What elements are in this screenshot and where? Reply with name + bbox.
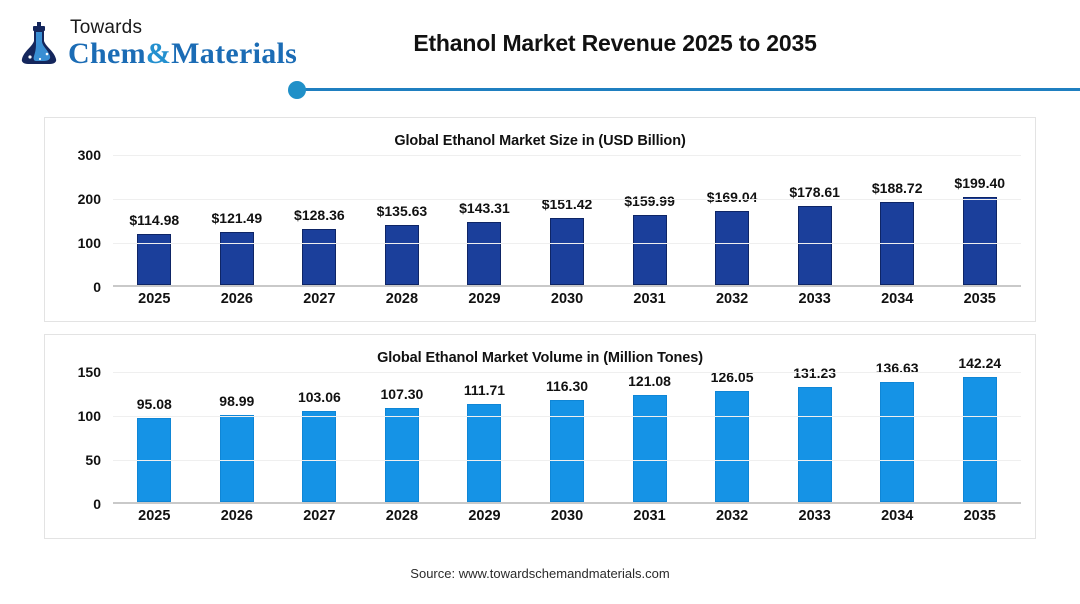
x-tick-label: 2029 [443, 291, 526, 307]
bar[interactable] [137, 234, 171, 285]
bar[interactable] [633, 215, 667, 285]
gridline [113, 372, 1021, 373]
y-tick-label: 100 [78, 235, 101, 251]
bar-column[interactable]: 98.99 [196, 372, 279, 502]
x-tick-label: 2028 [361, 291, 444, 307]
bar-column[interactable]: 111.71 [443, 372, 526, 502]
bar[interactable] [220, 232, 254, 285]
bar[interactable] [302, 411, 336, 502]
bar-column[interactable]: $151.42 [526, 155, 609, 285]
bar-value-label: 95.08 [137, 396, 172, 412]
chart-title-market-size: Global Ethanol Market Size in (USD Billi… [45, 118, 1035, 149]
bar-value-label: $114.98 [129, 212, 179, 228]
x-tick-label: 2025 [113, 508, 196, 524]
bar-value-label: $128.36 [294, 207, 345, 223]
bar[interactable] [715, 391, 749, 502]
bar-value-label: 111.71 [464, 382, 505, 398]
chart-market-size: 0100200300 $114.98$121.49$128.36$135.63$… [57, 155, 1021, 323]
bar-value-label: 116.30 [546, 378, 588, 394]
x-tick-label: 2031 [608, 508, 691, 524]
bar-column[interactable]: $114.98 [113, 155, 196, 285]
bar-column[interactable]: 126.05 [691, 372, 774, 502]
bar-value-label: 121.08 [628, 373, 671, 389]
bar-value-label: 142.24 [958, 355, 1001, 371]
bar-group-market-size: $114.98$121.49$128.36$135.63$143.31$151.… [113, 155, 1021, 285]
bar-value-label: 103.06 [298, 389, 341, 405]
y-tick-label: 100 [78, 408, 101, 424]
y-tick-label: 300 [78, 147, 101, 163]
bar-column[interactable]: 121.08 [608, 372, 691, 502]
bar-value-label: $135.63 [377, 203, 428, 219]
bar[interactable] [385, 225, 419, 285]
y-tick-label: 0 [93, 279, 101, 295]
bar-column[interactable]: $178.61 [773, 155, 856, 285]
bar[interactable] [385, 408, 419, 502]
x-axis-market-size: 2025202620272028202920302031203220332034… [113, 291, 1021, 307]
y-axis-market-volume: 050100150 [57, 372, 105, 504]
header-rule-dot [288, 81, 306, 99]
gridline [113, 416, 1021, 417]
bar[interactable] [798, 387, 832, 502]
gridline [113, 460, 1021, 461]
plot-area-market-volume: 95.0898.99103.06107.30111.71116.30121.08… [113, 372, 1021, 504]
bar[interactable] [467, 222, 501, 285]
bar-column[interactable]: 103.06 [278, 372, 361, 502]
gridline [113, 243, 1021, 244]
x-tick-label: 2035 [938, 508, 1021, 524]
x-tick-label: 2028 [361, 508, 444, 524]
x-tick-label: 2033 [773, 291, 856, 307]
gridline [113, 199, 1021, 200]
bar[interactable] [550, 400, 584, 502]
bar-value-label: 136.63 [876, 360, 919, 376]
bar[interactable] [633, 395, 667, 502]
chart-market-volume: 050100150 95.0898.99103.06107.30111.7111… [57, 372, 1021, 540]
bar-column[interactable]: $169.04 [691, 155, 774, 285]
bar-value-label: $188.72 [872, 180, 923, 196]
chart-panel-market-size: Global Ethanol Market Size in (USD Billi… [44, 117, 1036, 322]
bar-value-label: $143.31 [459, 200, 510, 216]
bar-column[interactable]: 116.30 [526, 372, 609, 502]
bar[interactable] [963, 377, 997, 502]
bar-column[interactable]: 95.08 [113, 372, 196, 502]
x-tick-label: 2026 [196, 508, 279, 524]
plot-area-market-size: $114.98$121.49$128.36$135.63$143.31$151.… [113, 155, 1021, 287]
x-tick-label: 2033 [773, 508, 856, 524]
bar-value-label: $199.40 [954, 175, 1005, 191]
bar-column[interactable]: $128.36 [278, 155, 361, 285]
bar-value-label: 98.99 [219, 393, 254, 409]
bar[interactable] [467, 404, 501, 502]
page-title: Ethanol Market Revenue 2025 to 2035 [0, 30, 1080, 57]
bar[interactable] [963, 197, 997, 285]
x-tick-label: 2034 [856, 508, 939, 524]
bar[interactable] [880, 382, 914, 502]
source-note: Source: www.towardschemandmaterials.com [0, 566, 1080, 581]
bar[interactable] [798, 206, 832, 285]
x-tick-label: 2032 [691, 508, 774, 524]
bar-group-market-volume: 95.0898.99103.06107.30111.71116.30121.08… [113, 372, 1021, 502]
x-tick-label: 2029 [443, 508, 526, 524]
bar-column[interactable]: $199.40 [938, 155, 1021, 285]
x-tick-label: 2027 [278, 291, 361, 307]
header-rule [300, 88, 1080, 91]
bar-column[interactable]: $143.31 [443, 155, 526, 285]
bar-column[interactable]: $135.63 [361, 155, 444, 285]
bar[interactable] [302, 229, 336, 285]
page-header: Towards Chem&Materials Ethanol Market Re… [0, 0, 1080, 100]
x-tick-label: 2035 [938, 291, 1021, 307]
bar-column[interactable]: $188.72 [856, 155, 939, 285]
x-tick-label: 2027 [278, 508, 361, 524]
bar-value-label: $121.49 [212, 210, 263, 226]
bar[interactable] [715, 211, 749, 285]
x-tick-label: 2030 [526, 508, 609, 524]
bar-column[interactable]: 142.24 [938, 372, 1021, 502]
bar-column[interactable]: 107.30 [361, 372, 444, 502]
y-axis-market-size: 0100200300 [57, 155, 105, 287]
bar-column[interactable]: $159.99 [608, 155, 691, 285]
bar[interactable] [220, 415, 254, 502]
bar-value-label: 107.30 [380, 386, 423, 402]
bar[interactable] [550, 218, 584, 285]
x-tick-label: 2034 [856, 291, 939, 307]
bar-column[interactable]: 136.63 [856, 372, 939, 502]
x-axis-market-volume: 2025202620272028202920302031203220332034… [113, 508, 1021, 524]
x-tick-label: 2031 [608, 291, 691, 307]
x-tick-label: 2032 [691, 291, 774, 307]
x-tick-label: 2026 [196, 291, 279, 307]
bar-column[interactable]: $121.49 [196, 155, 279, 285]
x-tick-label: 2025 [113, 291, 196, 307]
y-tick-label: 200 [78, 191, 101, 207]
gridline [113, 155, 1021, 156]
x-tick-label: 2030 [526, 291, 609, 307]
chart-panel-market-volume: Global Ethanol Market Volume in (Million… [44, 334, 1036, 539]
bar-value-label: $169.04 [707, 189, 758, 205]
y-tick-label: 50 [85, 452, 101, 468]
bar-value-label: $159.99 [624, 193, 675, 209]
bar-column[interactable]: 131.23 [773, 372, 856, 502]
infographic-page: Towards Chem&Materials Ethanol Market Re… [0, 0, 1080, 604]
y-tick-label: 0 [93, 496, 101, 512]
y-tick-label: 150 [78, 364, 101, 380]
